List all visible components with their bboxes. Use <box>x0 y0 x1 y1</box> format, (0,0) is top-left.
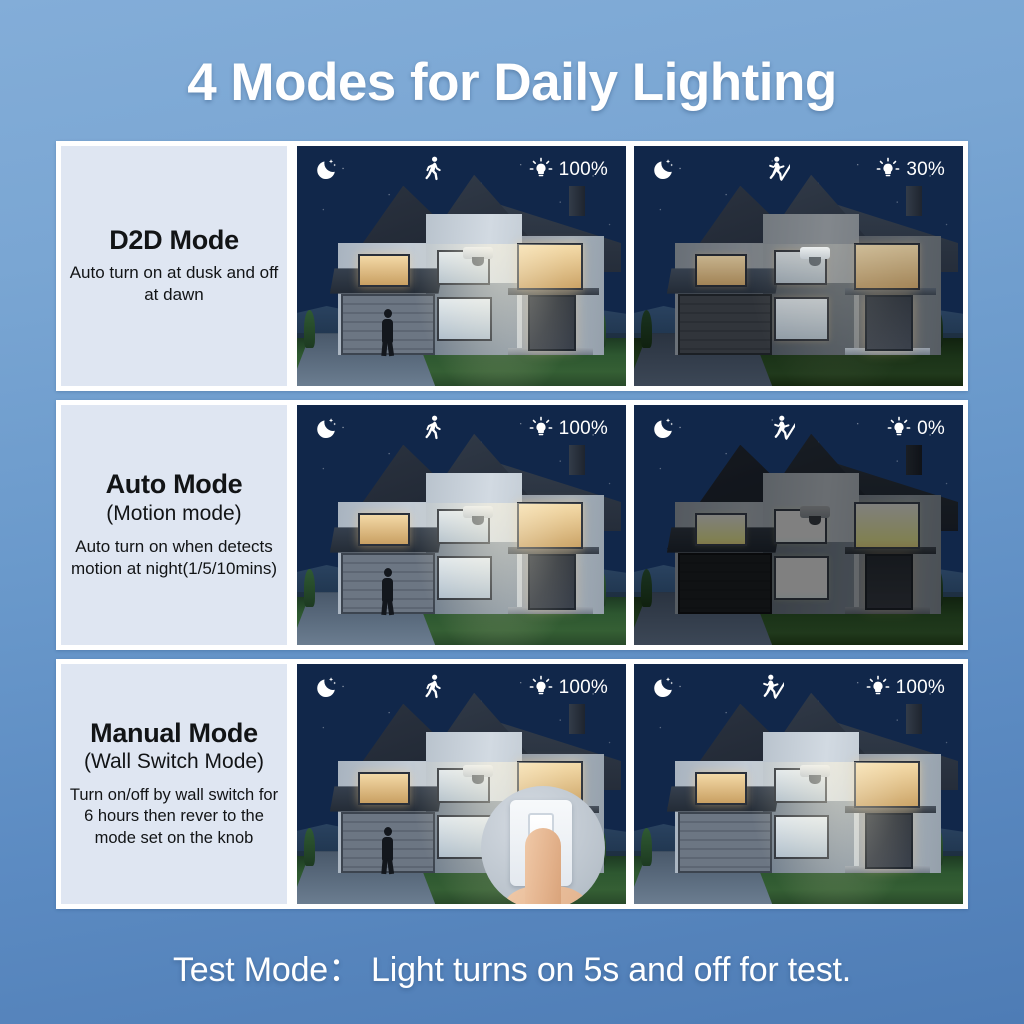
test-mode-footer: Test Mode： Light turns on 5s and off for… <box>0 942 1024 991</box>
scene-auto-no-motion: 0% <box>631 400 968 650</box>
house <box>667 693 950 873</box>
scene-d2d-dusk: 100% <box>292 141 631 391</box>
finger-pressing-switch <box>525 828 561 904</box>
chimney <box>906 186 922 216</box>
scene-status-bar: 100% <box>297 154 626 184</box>
mode-row-manual: Manual Mode (Wall Switch Mode) Turn on/o… <box>56 659 968 909</box>
lightbulb-icon <box>887 416 911 440</box>
chimney <box>569 704 585 734</box>
mode-row-d2d: D2D Mode Auto turn on at dusk and off at… <box>56 141 968 391</box>
house <box>667 175 950 355</box>
chimney <box>906 445 922 475</box>
chimney <box>906 704 922 734</box>
brightness-value: 30% <box>906 160 945 179</box>
lightbulb-icon <box>876 157 900 181</box>
front-door <box>865 813 913 869</box>
house <box>330 434 613 614</box>
scene-auto-motion: 100% <box>292 400 631 650</box>
brightness-value: 100% <box>559 678 608 697</box>
security-light-fixture <box>800 765 830 777</box>
mode-title: D2D Mode <box>109 225 239 255</box>
security-light-fixture <box>463 247 493 259</box>
window <box>437 297 492 341</box>
moon-stars-icon <box>652 416 677 441</box>
scene-status-bar: 100% <box>297 672 626 702</box>
walking-person-figure <box>379 827 396 873</box>
mode-description: Auto turn on when detects motion at nigh… <box>69 536 279 581</box>
mode-card-manual: Manual Mode (Wall Switch Mode) Turn on/o… <box>56 659 292 909</box>
moon-stars-icon <box>315 157 340 182</box>
wall-switch-inset[interactable] <box>481 786 605 904</box>
mode-card-d2d: D2D Mode Auto turn on at dusk and off at… <box>56 141 292 391</box>
scene-status-bar: 0% <box>634 413 963 443</box>
brightness-value: 100% <box>559 419 608 438</box>
window <box>358 513 410 546</box>
scene-manual-on: 100% <box>292 659 631 909</box>
page-title: 4 Modes for Daily Lighting <box>0 52 1024 113</box>
scene-status-bar: 30% <box>634 154 963 184</box>
brightness-value: 0% <box>917 419 945 438</box>
lightbulb-icon <box>529 416 553 440</box>
hedge <box>641 569 652 607</box>
chimney <box>569 445 585 475</box>
security-light-fixture <box>800 506 830 518</box>
brightness-value: 100% <box>559 160 608 179</box>
front-door <box>865 295 913 351</box>
front-door <box>528 554 576 610</box>
walking-person-figure <box>379 568 396 614</box>
no-motion-person-icon <box>758 674 784 700</box>
moon-stars-icon <box>652 157 677 182</box>
garage-door <box>678 812 771 873</box>
front-door <box>528 295 576 351</box>
security-light-fixture <box>463 765 493 777</box>
chimney <box>569 186 585 216</box>
window <box>517 243 583 290</box>
window <box>517 502 583 549</box>
security-light-fixture <box>800 247 830 259</box>
no-motion-person-icon <box>764 156 790 182</box>
scene-d2d-dawn: 30% <box>631 141 968 391</box>
lightbulb-icon <box>866 675 890 699</box>
window <box>358 772 410 805</box>
window <box>437 556 492 600</box>
house <box>667 434 950 614</box>
moon-stars-icon <box>652 675 677 700</box>
window <box>774 815 829 859</box>
mode-subtitle: (Motion mode) <box>106 501 241 526</box>
walking-person-icon <box>422 674 446 700</box>
hedge <box>304 569 315 607</box>
lightbulb-icon <box>529 157 553 181</box>
hedge <box>304 828 315 866</box>
hedge <box>641 828 652 866</box>
mode-description: Auto turn on at dusk and off at dawn <box>69 262 279 307</box>
window <box>774 556 829 600</box>
mode-card-auto: Auto Mode (Motion mode) Auto turn on whe… <box>56 400 292 650</box>
scene-manual-on-no-motion: 100% <box>631 659 968 909</box>
garage-door <box>678 553 771 614</box>
mode-subtitle: (Wall Switch Mode) <box>84 749 264 774</box>
no-motion-person-icon <box>769 415 795 441</box>
window <box>854 243 920 290</box>
window <box>774 297 829 341</box>
garage-door <box>678 294 771 355</box>
window <box>854 761 920 808</box>
hedge <box>641 310 652 348</box>
window <box>695 254 747 287</box>
scene-status-bar: 100% <box>297 413 626 443</box>
security-light-fixture <box>463 506 493 518</box>
front-door <box>865 554 913 610</box>
lightbulb-icon <box>529 675 553 699</box>
walking-person-icon <box>422 156 446 182</box>
mode-row-auto: Auto Mode (Motion mode) Auto turn on whe… <box>56 400 968 650</box>
house <box>330 175 613 355</box>
mode-title: Auto Mode <box>106 469 243 499</box>
modes-list: D2D Mode Auto turn on at dusk and off at… <box>56 141 968 918</box>
hedge <box>304 310 315 348</box>
moon-stars-icon <box>315 416 340 441</box>
window <box>695 772 747 805</box>
moon-stars-icon <box>315 675 340 700</box>
mode-description: Turn on/off by wall switch for 6 hours t… <box>69 785 279 850</box>
scene-status-bar: 100% <box>634 672 963 702</box>
walking-person-figure <box>379 309 396 355</box>
window <box>695 513 747 546</box>
brightness-value: 100% <box>896 678 945 697</box>
walking-person-icon <box>422 415 446 441</box>
mode-title: Manual Mode <box>90 718 258 748</box>
window <box>854 502 920 549</box>
window <box>358 254 410 287</box>
